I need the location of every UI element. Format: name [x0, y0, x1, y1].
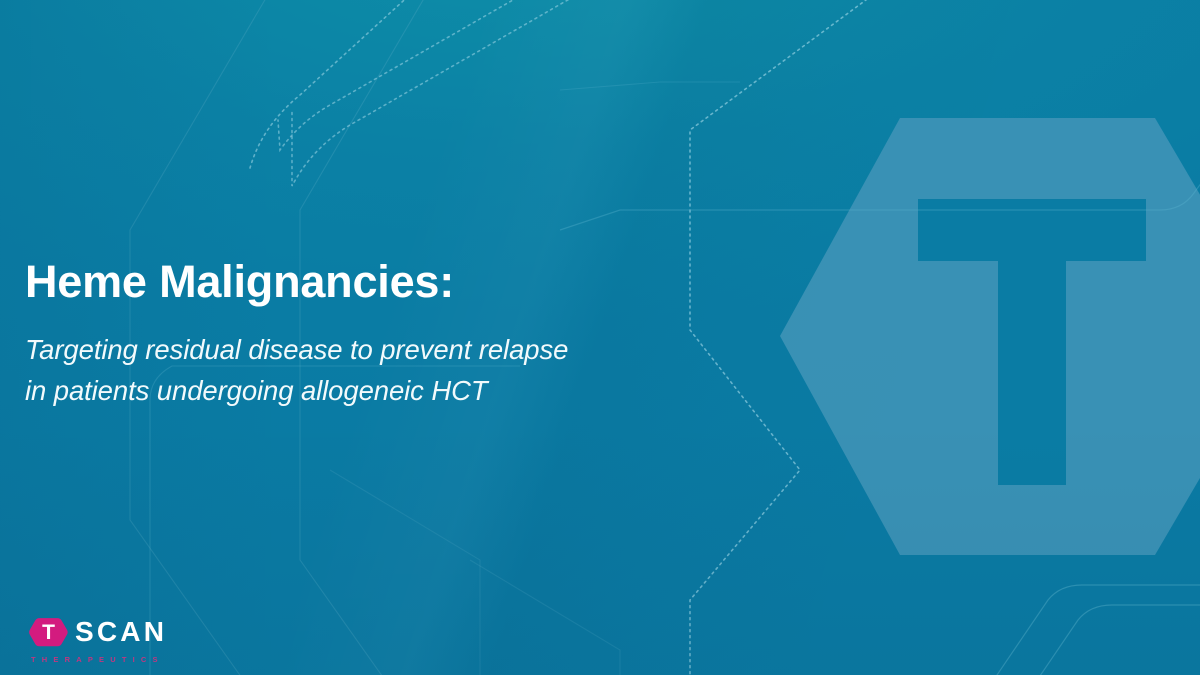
page-subtitle: Targeting residual disease to prevent re… [25, 307, 685, 411]
svg-text:T: T [42, 621, 55, 644]
title-text-block: Heme Malignancies: Targeting residual di… [25, 258, 685, 411]
logo-hexagon-icon: T [28, 612, 68, 652]
subtitle-line-2: in patients undergoing allogeneic HCT [25, 370, 685, 411]
logo-row: T SCAN [28, 612, 167, 652]
page-title: Heme Malignancies: [25, 258, 685, 307]
logo-wordmark: SCAN [75, 618, 167, 646]
logo-tagline: THERAPEUTICS [31, 656, 164, 664]
tscan-logo: T SCAN THERAPEUTICS [28, 612, 167, 664]
title-slide: Heme Malignancies: Targeting residual di… [0, 0, 1200, 675]
subtitle-line-1: Targeting residual disease to prevent re… [25, 329, 685, 370]
